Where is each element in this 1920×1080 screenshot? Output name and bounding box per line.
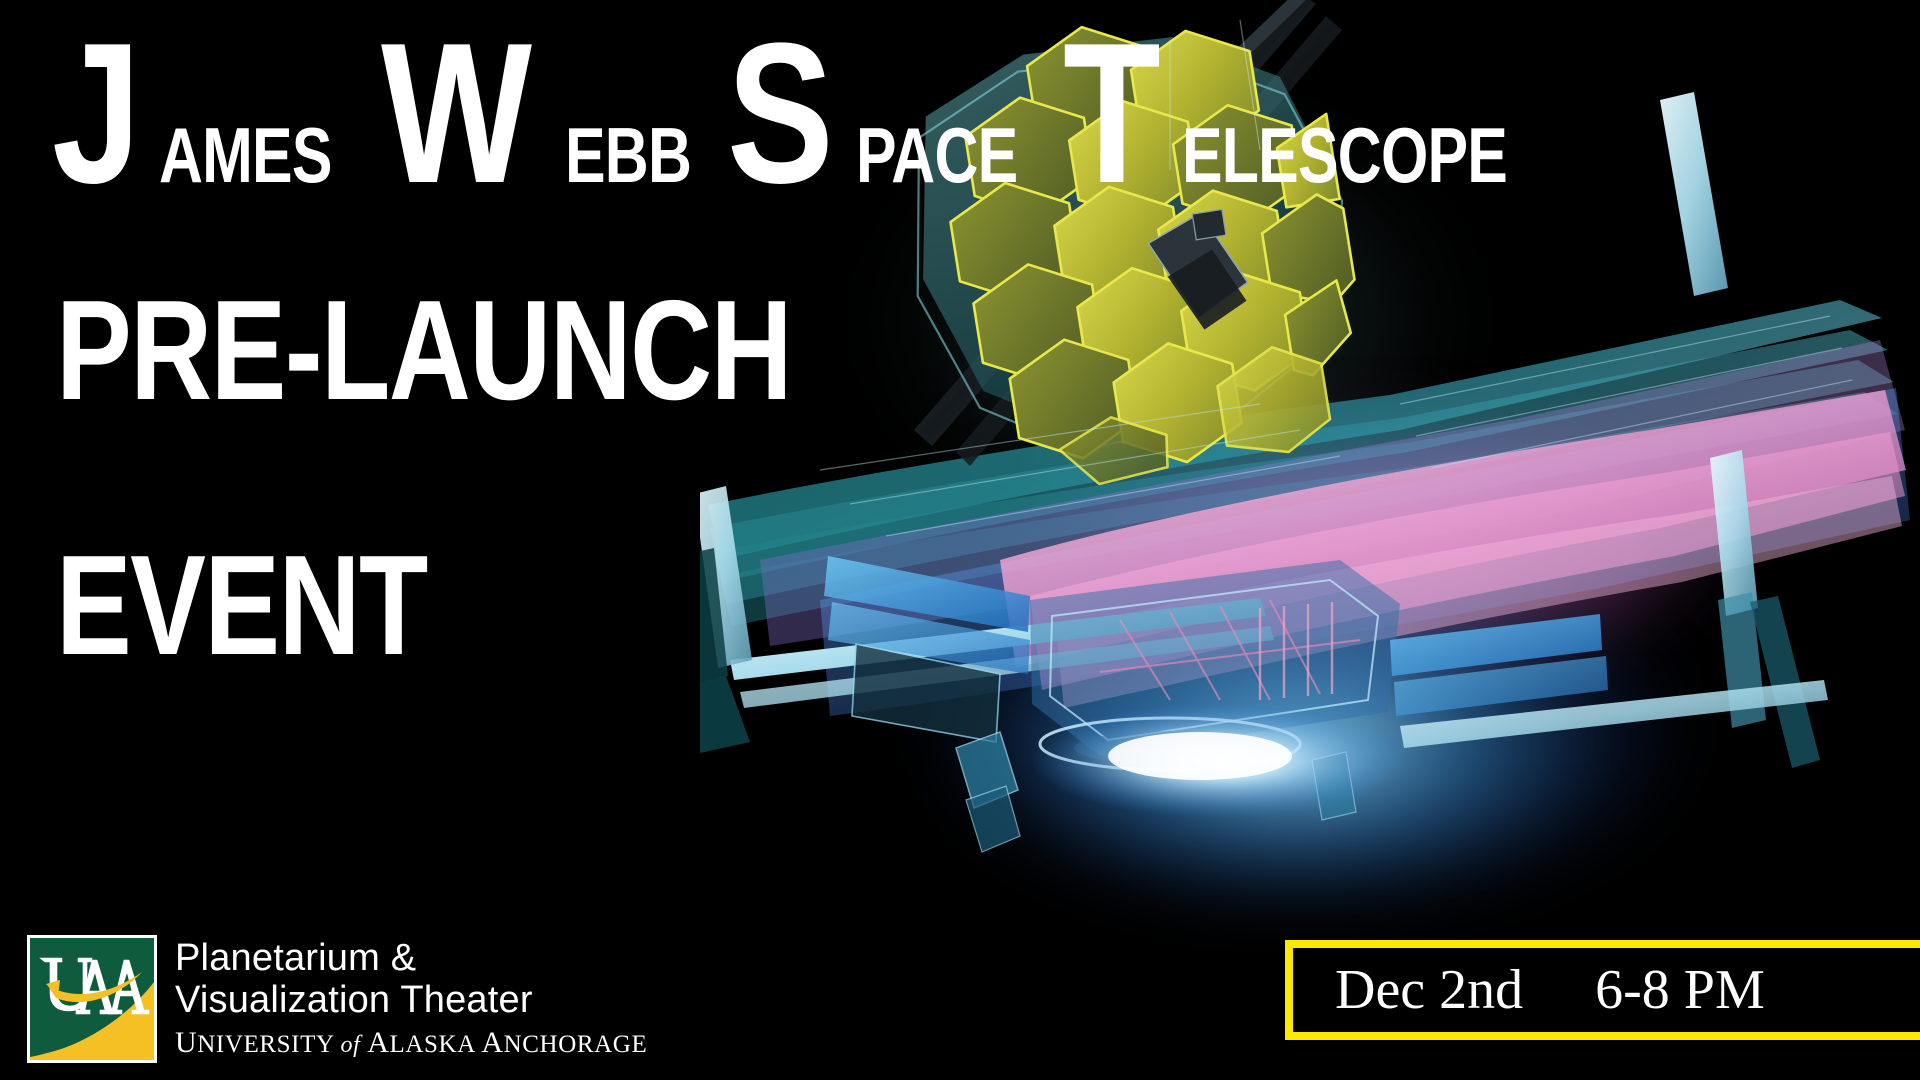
event-datetime-badge: Dec 2nd 6-8 PM xyxy=(1285,940,1920,1040)
title-cap-j: J xyxy=(52,14,138,214)
subtitle-u: U xyxy=(175,1026,197,1059)
title-rest-elescope: ELESCOPE xyxy=(1182,116,1507,194)
planetarium-name-line-2: Visualization Theater xyxy=(175,979,647,1021)
headline-line-1-text: PRE-LAUNCH xyxy=(56,280,791,422)
headline-line-2-text: EVENT xyxy=(56,535,427,677)
uaa-logo-graphic xyxy=(30,938,154,1060)
title-cap-s: S xyxy=(727,14,831,214)
title-rest-ebb: EBB xyxy=(565,116,691,194)
event-time: 6-8 PM xyxy=(1595,962,1765,1018)
title-cap-t: T xyxy=(1063,14,1158,214)
headline-line-2: EVENT xyxy=(56,535,519,677)
page-title: JAMESWEBBSPACETELESCOPE xyxy=(52,14,1598,214)
event-date: Dec 2nd xyxy=(1335,962,1523,1018)
subtitle-a2: A xyxy=(481,1026,503,1059)
planetarium-name-line-1: Planetarium & xyxy=(175,937,647,979)
uaa-logo-text: Planetarium & Visualization Theater UNIV… xyxy=(175,935,647,1060)
uaa-logo-lockup: Planetarium & Visualization Theater UNIV… xyxy=(27,935,647,1063)
subtitle-of: of xyxy=(341,1032,361,1058)
subtitle-niversity: NIVERSITY xyxy=(197,1031,333,1058)
university-subtitle: UNIVERSITY of ALASKA ANCHORAGE xyxy=(175,1026,647,1060)
poster-canvas: JAMESWEBBSPACETELESCOPE PRE-LAUNCH EVENT xyxy=(0,0,1920,1080)
headline-line-1: PRE-LAUNCH xyxy=(56,280,975,422)
subtitle-nchorage: NCHORAGE xyxy=(504,1031,648,1058)
title-rest-ames: AMES xyxy=(159,116,332,194)
uaa-logo-mark xyxy=(27,935,157,1063)
subtitle-a1: A xyxy=(367,1026,389,1059)
title-cap-w: W xyxy=(381,14,529,214)
title-rest-pace: PACE xyxy=(856,116,1017,194)
subtitle-laska: LASKA xyxy=(390,1031,475,1058)
